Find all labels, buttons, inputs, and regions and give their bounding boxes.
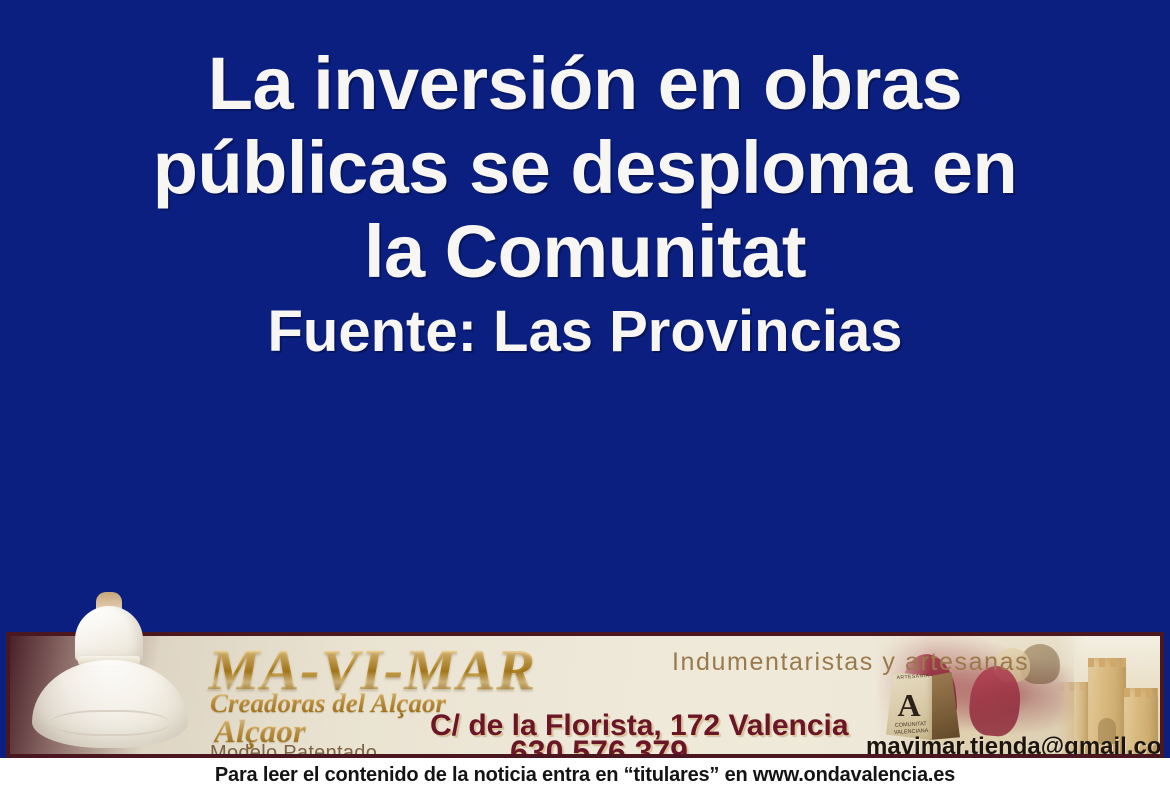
footer-strip: Para leer el contenido de la noticia ent… xyxy=(0,758,1170,791)
headline: La inversión en obras públicas se desplo… xyxy=(125,42,1045,294)
slide-canvas: La inversión en obras públicas se desplo… xyxy=(0,0,1170,791)
mannequin-neck-icon xyxy=(96,592,122,612)
source-line: Fuente: Las Provincias xyxy=(40,294,1130,364)
footer-text: Para leer el contenido de la noticia ent… xyxy=(215,764,955,786)
tent-card-right-panel-icon xyxy=(930,672,960,740)
artesania-badge-icon: ARTESANIA A COMUNITAT VALENCIANA xyxy=(886,672,962,740)
merlons-icon xyxy=(1124,688,1158,697)
merlons-icon xyxy=(1058,682,1092,691)
merlons-icon xyxy=(1088,658,1126,667)
brand-tagline-right: Indumentaristas y artesanas xyxy=(672,648,1029,676)
shop-email[interactable]: mavimar.tienda@gmail.com xyxy=(866,734,1164,758)
patent-note: Modelo Patentado xyxy=(210,742,377,758)
title-block: La inversión en obras públicas se desplo… xyxy=(0,42,1170,364)
shop-phone[interactable]: 630.576.379 xyxy=(510,735,688,758)
artesania-badge-letter: A xyxy=(896,688,922,722)
sponsor-banner[interactable]: ARTESANIA A COMUNITAT VALENCIANA MA-VI-M… xyxy=(6,632,1164,758)
